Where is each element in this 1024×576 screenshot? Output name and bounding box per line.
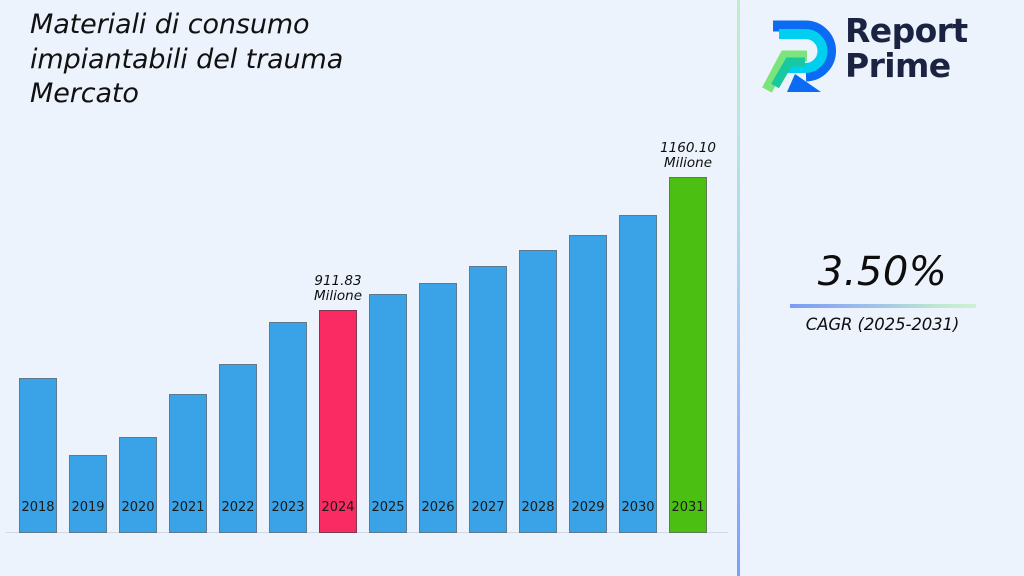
bar-unit-2024: Milione [314, 289, 362, 304]
bar-slot-2029: 2029 [569, 235, 607, 533]
bar-slot-2028: 2028 [519, 250, 557, 533]
bar-2031[interactable] [669, 177, 707, 533]
brand-name-line1: Report [845, 14, 968, 49]
x-axis-tick-2025: 2025 [371, 500, 404, 515]
bar-slot-2022: 2022 [219, 364, 257, 533]
brand-name-line2: Prime [845, 49, 968, 84]
infographic-page: Materiali di consumo impiantabili del tr… [0, 0, 1024, 576]
bar-slot-2019: 2019 [69, 455, 107, 533]
bar-slot-2024: 911.83Milione2024 [319, 310, 357, 533]
x-axis-tick-2020: 2020 [121, 500, 154, 515]
bar-2020[interactable] [119, 437, 157, 533]
bar-slot-2020: 2020 [119, 437, 157, 533]
bar-2027[interactable] [469, 266, 507, 533]
x-axis-tick-2026: 2026 [421, 500, 454, 515]
x-axis-tick-2019: 2019 [71, 500, 104, 515]
report-prime-r-logo-icon [761, 18, 839, 96]
bar-slot-2027: 2027 [469, 266, 507, 533]
bar-slot-2018: 2018 [19, 378, 57, 533]
bar-2025[interactable] [369, 294, 407, 533]
x-axis-tick-2021: 2021 [171, 500, 204, 515]
x-axis-tick-2022: 2022 [221, 500, 254, 515]
brand-logo-block: Report Prime [761, 14, 1011, 100]
bar-value-label-2024: 911.83Milione [314, 274, 362, 304]
bar-slot-2025: 2025 [369, 294, 407, 533]
bar-value-label-2031: 1160.10Milione [660, 141, 716, 171]
bar-2029[interactable] [569, 235, 607, 533]
x-axis-tick-2024: 2024 [321, 500, 354, 515]
bar-2028[interactable] [519, 250, 557, 533]
x-axis-tick-2027: 2027 [471, 500, 504, 515]
x-axis-tick-2023: 2023 [271, 500, 304, 515]
bar-slot-2023: 2023 [269, 322, 307, 533]
x-axis-tick-2030: 2030 [621, 500, 654, 515]
x-axis-tick-2031: 2031 [671, 500, 704, 515]
x-axis-tick-2029: 2029 [571, 500, 604, 515]
cagr-caption: CAGR (2025-2031) [741, 315, 1024, 334]
bar-value-2031: 1160.10 [660, 141, 716, 156]
cagr-divider-rule [790, 304, 976, 308]
bar-slot-2021: 2021 [169, 394, 207, 533]
right-panel: Report Prime 3.50% CAGR (2025-2031) [741, 0, 1024, 576]
bar-chart-plot-area: 201820192020202120222023911.83Milione202… [0, 0, 738, 576]
bar-slot-2031: 1160.10Milione2031 [669, 177, 707, 533]
bar-value-2024: 911.83 [314, 274, 362, 289]
x-axis-tick-2028: 2028 [521, 500, 554, 515]
x-axis-tick-2018: 2018 [21, 500, 54, 515]
bar-slot-2026: 2026 [419, 283, 457, 533]
cagr-block: 3.50% CAGR (2025-2031) [741, 252, 1024, 334]
bar-2026[interactable] [419, 283, 457, 533]
bar-2019[interactable] [69, 455, 107, 533]
chart-panel: Materiali di consumo impiantabili del tr… [0, 0, 738, 576]
panel-divider [737, 0, 740, 576]
cagr-value: 3.50% [741, 252, 1024, 292]
bar-slot-2030: 2030 [619, 215, 657, 533]
brand-name: Report Prime [845, 14, 968, 84]
bar-unit-2031: Milione [660, 156, 716, 171]
bar-2030[interactable] [619, 215, 657, 533]
